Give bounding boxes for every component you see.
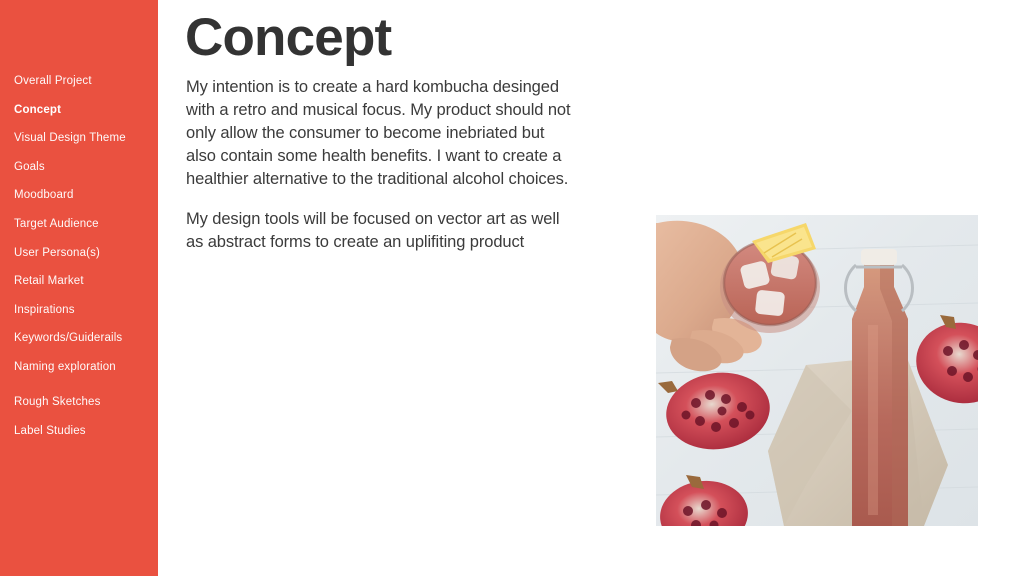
sidebar-item-moodboard[interactable]: Moodboard — [0, 188, 158, 202]
sidebar-item-user-personas[interactable]: User Persona(s) — [0, 246, 158, 260]
body-copy: My intention is to create a hard kombuch… — [186, 76, 576, 254]
concept-paragraph-2: My design tools will be focused on vecto… — [186, 208, 576, 254]
sidebar-item-inspirations[interactable]: Inspirations — [0, 303, 158, 317]
sidebar-item-goals[interactable]: Goals — [0, 160, 158, 174]
sidebar-item-label-studies[interactable]: Label Studies — [0, 424, 158, 438]
main-content: Concept My intention is to create a hard… — [158, 0, 1024, 576]
sidebar-item-rough-sketches[interactable]: Rough Sketches — [0, 395, 158, 409]
sidebar-item-retail-market[interactable]: Retail Market — [0, 274, 158, 288]
kombucha-photo — [656, 215, 978, 526]
sidebar-item-keywords-guiderails[interactable]: Keywords/Guiderails — [0, 331, 158, 345]
sidebar-navigation: Overall Project Concept Visual Design Th… — [0, 0, 158, 576]
sidebar-item-overall-project[interactable]: Overall Project — [0, 74, 158, 88]
slide-canvas: Overall Project Concept Visual Design Th… — [0, 0, 1024, 576]
sidebar-item-visual-design-theme[interactable]: Visual Design Theme — [0, 131, 158, 145]
sidebar-item-target-audience[interactable]: Target Audience — [0, 217, 158, 231]
concept-paragraph-1: My intention is to create a hard kombuch… — [186, 76, 576, 191]
sidebar-item-naming-exploration[interactable]: Naming exploration — [0, 360, 158, 374]
sidebar-item-concept[interactable]: Concept — [0, 103, 158, 117]
page-title: Concept — [185, 6, 391, 70]
